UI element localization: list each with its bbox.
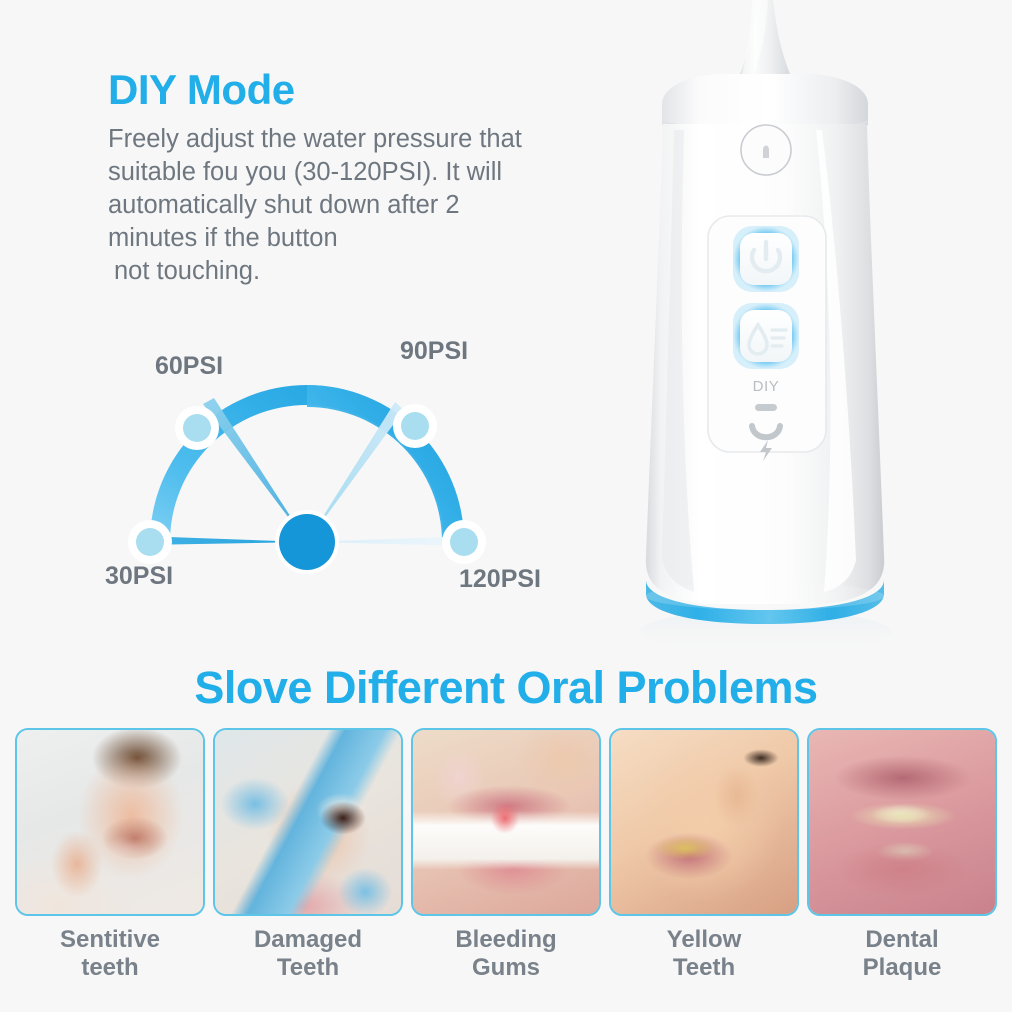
photo-frame	[213, 728, 403, 916]
photo-frame	[609, 728, 799, 916]
release-icon	[763, 146, 769, 159]
pressure-gauge-diagram: 30PSI 60PSI 90PSI 120PSI	[95, 330, 585, 610]
gauge-node-120psi[interactable]	[442, 520, 486, 564]
mode-button[interactable]	[733, 303, 799, 369]
photo-caption: Bleeding Gums	[455, 926, 556, 983]
base-ring-gloss	[646, 582, 884, 610]
photo-frame	[807, 728, 997, 916]
photo-frame	[411, 728, 601, 916]
description-line-2: suitable fou you (30-120PSI). It will	[108, 156, 578, 189]
description-line-5: not touching.	[108, 255, 578, 288]
diy-mode-description: Freely adjust the water pressure that su…	[108, 123, 578, 287]
photo-caption: Yellow Teeth	[667, 926, 742, 983]
photo-caption: Sentitive teeth	[60, 926, 160, 983]
photo-caption: Damaged Teeth	[254, 926, 362, 983]
photo-bleeding-gums	[413, 730, 599, 914]
photo-damaged-teeth	[215, 730, 401, 914]
nozzle-release-button[interactable]	[741, 125, 791, 175]
diy-mode-label: DIY	[753, 378, 780, 395]
mode-level-indicator	[755, 404, 777, 411]
gauge-node-90psi[interactable]	[393, 404, 437, 448]
gauge-node-60psi[interactable]	[175, 406, 219, 450]
photo-sensitive-teeth	[17, 730, 203, 914]
gauge-hub	[275, 510, 339, 574]
oral-problems-gallery: Sentitive teeth Damaged Teeth Bleeding G…	[17, 728, 995, 988]
gauge-node-30psi[interactable]	[128, 520, 172, 564]
photo-yellow-teeth	[611, 730, 797, 914]
description-line-1: Freely adjust the water pressure that	[108, 123, 578, 156]
device-svg: DIY	[600, 0, 930, 670]
psi-label-60: 60PSI	[155, 352, 223, 381]
psi-label-120: 120PSI	[459, 565, 541, 594]
water-flosser-device: DIY	[600, 0, 930, 670]
power-button[interactable]	[733, 226, 799, 292]
psi-label-90: 90PSI	[400, 337, 468, 366]
description-line-3: automatically shut down after 2	[108, 189, 578, 222]
diy-mode-title: DIY Mode	[108, 66, 295, 114]
description-line-4: minutes if the button	[108, 222, 578, 255]
oral-problems-heading: Slove Different Oral Problems	[0, 662, 1012, 714]
gallery-item-damaged-teeth[interactable]: Damaged Teeth	[215, 728, 401, 988]
gallery-item-yellow-teeth[interactable]: Yellow Teeth	[611, 728, 797, 988]
psi-label-30: 30PSI	[105, 562, 173, 591]
photo-caption: Dental Plaque	[863, 926, 942, 983]
photo-frame	[15, 728, 205, 916]
gallery-item-sensitive-teeth[interactable]: Sentitive teeth	[17, 728, 203, 988]
gallery-item-dental-plaque[interactable]: Dental Plaque	[809, 728, 995, 988]
photo-dental-plaque	[809, 730, 995, 914]
gallery-item-bleeding-gums[interactable]: Bleeding Gums	[413, 728, 599, 988]
product-infographic: DIY Mode Freely adjust the water pressur…	[0, 0, 1012, 1012]
